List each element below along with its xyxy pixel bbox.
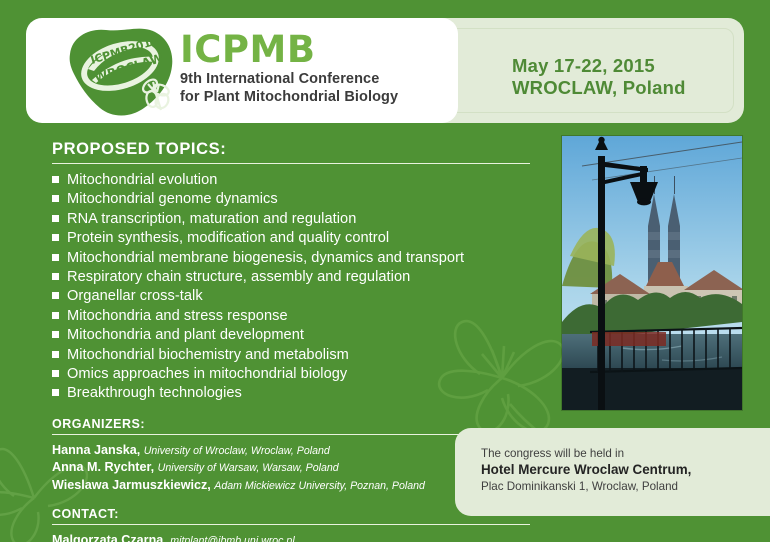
topic-label: Respiratory chain structure, assembly an… [67, 268, 410, 287]
venue-address: Plac Dominikanski 1, Wroclaw, Poland [481, 479, 770, 494]
bullet-icon [52, 370, 59, 377]
contact-email[interactable]: mitplant@ibmb.uni.wroc.pl [170, 535, 294, 542]
organizer-affiliation: University of Wroclaw, Wroclaw, Poland [144, 445, 330, 457]
topic-label: Mitochondrial genome dynamics [67, 190, 278, 209]
title-block: ICPMB 9th International Conference for P… [180, 30, 398, 106]
topic-label: Mitochondria and stress response [67, 307, 288, 326]
icpmb-leaf-logo-icon: ICPMB2015 WROCLAW [62, 24, 184, 120]
conference-location: WROCLAW, Poland [512, 77, 686, 99]
venue-box: The congress will be held in Hotel Mercu… [455, 428, 770, 516]
organizer-name: Wieslawa Jarmuszkiewicz, [52, 478, 211, 492]
topic-label: Breakthrough technologies [67, 384, 242, 403]
bullet-icon [52, 215, 59, 222]
topic-item: Omics approaches in mitochondrial biolog… [52, 365, 530, 384]
bullet-icon [52, 195, 59, 202]
topic-item: Mitochondria and plant development [52, 326, 530, 345]
topic-label: Omics approaches in mitochondrial biolog… [67, 365, 347, 384]
conference-poster: ICPMB2015 WROCLAW ICPMB 9th Internationa… [0, 0, 770, 542]
topic-label: Mitochondrial membrane biogenesis, dynam… [67, 249, 464, 268]
bullet-icon [52, 176, 59, 183]
topics-list: Mitochondrial evolution Mitochondrial ge… [52, 171, 530, 404]
contact-line: Malgorzata Czarna, mitplant@ibmb.uni.wro… [52, 532, 530, 542]
bullet-icon [52, 331, 59, 338]
topic-item: Breakthrough technologies [52, 384, 530, 403]
venue-hotel-name: Hotel Mercure Wroclaw Centrum, [481, 461, 770, 479]
topic-label: Mitochondria and plant development [67, 326, 304, 345]
topic-item: Mitochondrial evolution [52, 171, 530, 190]
topic-item: Mitochondrial membrane biogenesis, dynam… [52, 249, 530, 268]
bullet-icon [52, 292, 59, 299]
subtitle-line-1: 9th International Conference [180, 71, 398, 89]
organizer-name: Anna M. Rychter, [52, 460, 154, 474]
venue-intro: The congress will be held in [481, 446, 770, 461]
date-location-block: May 17-22, 2015 WROCLAW, Poland [512, 55, 686, 99]
bullet-icon [52, 351, 59, 358]
wroclaw-cathedral-photo [562, 136, 742, 410]
bullet-icon [52, 389, 59, 396]
topic-label: Mitochondrial biochemistry and metabolis… [67, 346, 349, 365]
topic-item: Mitochondrial biochemistry and metabolis… [52, 346, 530, 365]
topic-item: Respiratory chain structure, assembly an… [52, 268, 530, 287]
topic-label: Organellar cross-talk [67, 287, 203, 306]
organizer-name: Hanna Janska, [52, 443, 140, 457]
bullet-icon [52, 254, 59, 261]
topic-label: RNA transcription, maturation and regula… [67, 210, 356, 229]
topic-item: Mitochondrial genome dynamics [52, 190, 530, 209]
organizer-affiliation: Adam Mickiewicz University, Poznan, Pola… [214, 480, 425, 492]
topics-heading: PROPOSED TOPICS: [52, 140, 530, 164]
contact-section: CONTACT: Malgorzata Czarna, mitplant@ibm… [52, 507, 530, 542]
brand-title: ICPMB [180, 30, 398, 70]
bullet-icon [52, 312, 59, 319]
subtitle-line-2: for Plant Mitochondrial Biology [180, 89, 398, 107]
topic-label: Mitochondrial evolution [67, 171, 217, 190]
conference-date: May 17-22, 2015 [512, 55, 686, 77]
organizer-affiliation: University of Warsaw, Warsaw, Poland [158, 462, 339, 474]
topic-item: Organellar cross-talk [52, 287, 530, 306]
contact-name: Malgorzata Czarna, [52, 533, 167, 542]
topic-label: Protein synthesis, modification and qual… [67, 229, 389, 248]
topic-item: RNA transcription, maturation and regula… [52, 210, 530, 229]
topic-item: Protein synthesis, modification and qual… [52, 229, 530, 248]
topic-item: Mitochondria and stress response [52, 307, 530, 326]
conference-subtitle: 9th International Conference for Plant M… [180, 71, 398, 106]
bullet-icon [52, 273, 59, 280]
bullet-icon [52, 234, 59, 241]
